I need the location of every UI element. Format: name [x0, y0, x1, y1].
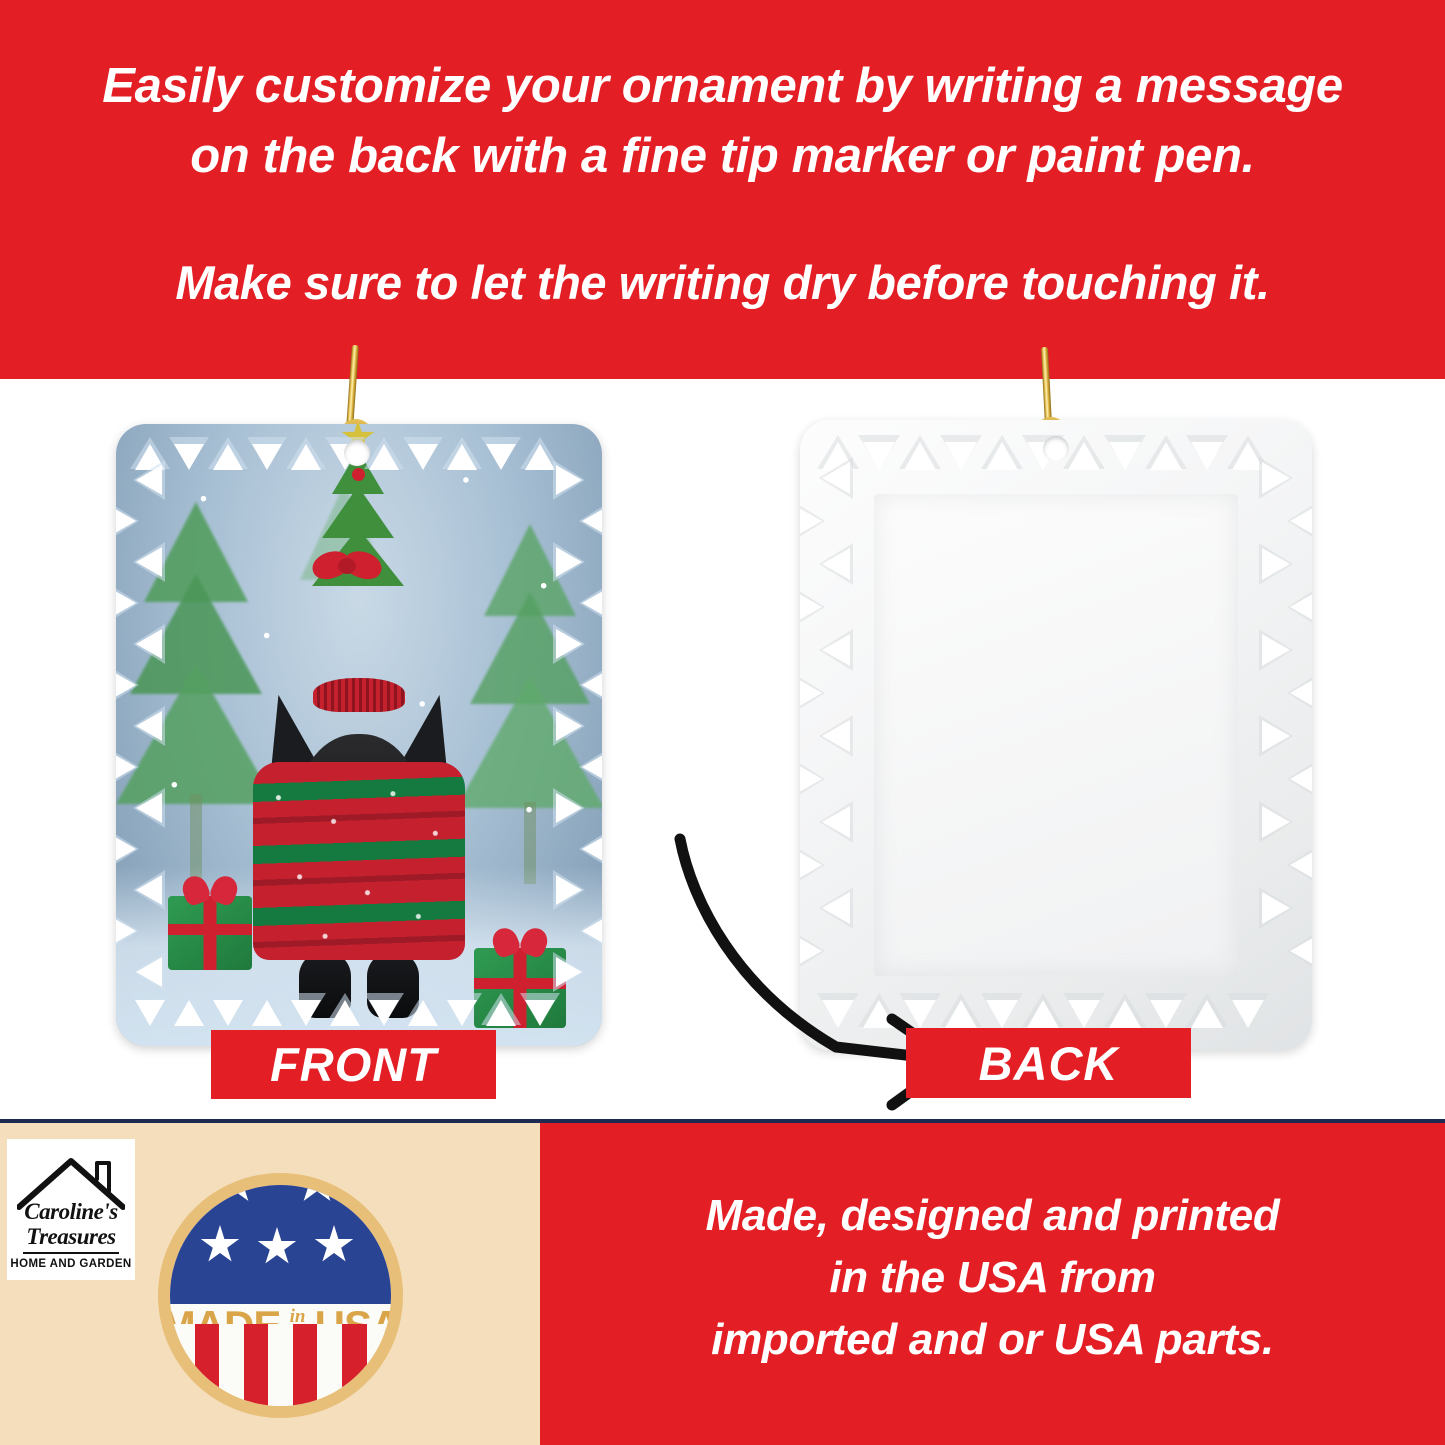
lace-hole [1109, 442, 1141, 470]
bow-knot [338, 558, 356, 574]
instruction-line-3: Make sure to let the writing dry before … [0, 255, 1445, 310]
product-photo-stage [0, 379, 1445, 1121]
product-marketing-image: Easily customize your ornament by writin… [0, 0, 1445, 1445]
lace-ridge [1227, 435, 1269, 469]
lace-ridge [817, 435, 859, 469]
badge-stripe [342, 1324, 367, 1406]
sweater-snowflake-pattern [253, 762, 465, 960]
logo-tagline: HOME AND GARDEN [10, 1258, 131, 1270]
lace-hole [945, 442, 977, 470]
back-hanger-hole [1043, 436, 1069, 462]
badge-stripe [317, 1324, 342, 1406]
lace-hole [1109, 1000, 1141, 1028]
front-label: FRONT [211, 1030, 496, 1099]
lace-hole [1150, 1000, 1182, 1028]
lace-hole [1191, 1000, 1223, 1028]
badge-stripe [293, 1324, 318, 1406]
gift-bow-right [493, 928, 547, 956]
made-in-usa-badge: MADE in the USA [158, 1173, 403, 1418]
logo-name-line2: Treasures [26, 1225, 115, 1248]
badge-stripe [367, 1324, 392, 1406]
badge-face: MADE in the USA [170, 1185, 391, 1406]
gift-ribbon-horizontal-2 [474, 978, 566, 989]
usa-notice-line-3: imported and or USA parts. [540, 1315, 1445, 1365]
lace-ridge [1063, 993, 1105, 1027]
badge-stripe [219, 1324, 244, 1406]
lace-ridge [1063, 435, 1105, 469]
scottish-terrier [247, 688, 471, 1018]
lace-ridge [940, 435, 982, 469]
lace-hole [1068, 442, 1100, 470]
lace-ridge [1186, 993, 1228, 1027]
ugly-christmas-sweater [253, 762, 465, 960]
house-roof-icon [17, 1157, 125, 1211]
lace-hole [1068, 1000, 1100, 1028]
instructions-banner: Easily customize your ornament by writin… [0, 0, 1445, 379]
lace-hole [1232, 442, 1264, 470]
lace-hole [1232, 1000, 1264, 1028]
ornament-front[interactable] [116, 424, 602, 1046]
badge-stripe [170, 1324, 195, 1406]
lace-ridge [981, 435, 1023, 469]
gift-box-right [474, 948, 566, 1028]
usa-notice-line-1: Made, designed and printed [540, 1191, 1445, 1241]
gift-ribbon-horizontal [168, 924, 252, 935]
badge-stripe [268, 1324, 293, 1406]
lace-ridge [1145, 435, 1187, 469]
lace-ridge [1104, 993, 1146, 1027]
badge-star-2 [257, 1227, 297, 1267]
badge-star-3 [314, 1225, 354, 1265]
back-label-text: BACK [979, 1036, 1119, 1091]
logo-divider-rule [23, 1252, 119, 1254]
usa-notice-line-2: in the USA from [540, 1253, 1445, 1303]
lace-ridge [858, 435, 900, 469]
instruction-line-2: on the back with a fine tip marker or pa… [0, 128, 1445, 184]
lace-hole [863, 442, 895, 470]
tree-hat-bauble [352, 468, 365, 481]
front-hanger-hole [344, 440, 370, 466]
lace-hole [1150, 442, 1182, 470]
badge-star-1 [200, 1225, 240, 1265]
lace-hole [904, 442, 936, 470]
gift-box-left [168, 896, 252, 970]
front-label-text: FRONT [270, 1037, 437, 1092]
badge-stripe [244, 1324, 269, 1406]
instruction-line-1: Easily customize your ornament by writin… [0, 58, 1445, 114]
lace-ridge [1104, 435, 1146, 469]
back-label: BACK [906, 1028, 1191, 1098]
gift-bow-left [183, 876, 237, 904]
front-artwork [116, 424, 602, 1046]
lace-ridge [1145, 993, 1187, 1027]
lace-ridge [1186, 435, 1228, 469]
dog-leg-right [367, 952, 419, 1018]
badge-blue-field [170, 1185, 391, 1304]
dog-leg-left [299, 952, 351, 1018]
badge-stripe [195, 1324, 220, 1406]
badge-stripes [170, 1324, 391, 1406]
lace-hole [1191, 442, 1223, 470]
carolines-treasures-logo: Caroline's Treasures HOME AND GARDEN [7, 1139, 135, 1280]
lace-ridge [1227, 993, 1269, 1027]
lace-hole [986, 442, 1018, 470]
badge-star-partial-right [294, 1185, 340, 1205]
sweater-collar [313, 678, 405, 712]
lace-hole [822, 442, 854, 470]
lace-ridge [899, 435, 941, 469]
